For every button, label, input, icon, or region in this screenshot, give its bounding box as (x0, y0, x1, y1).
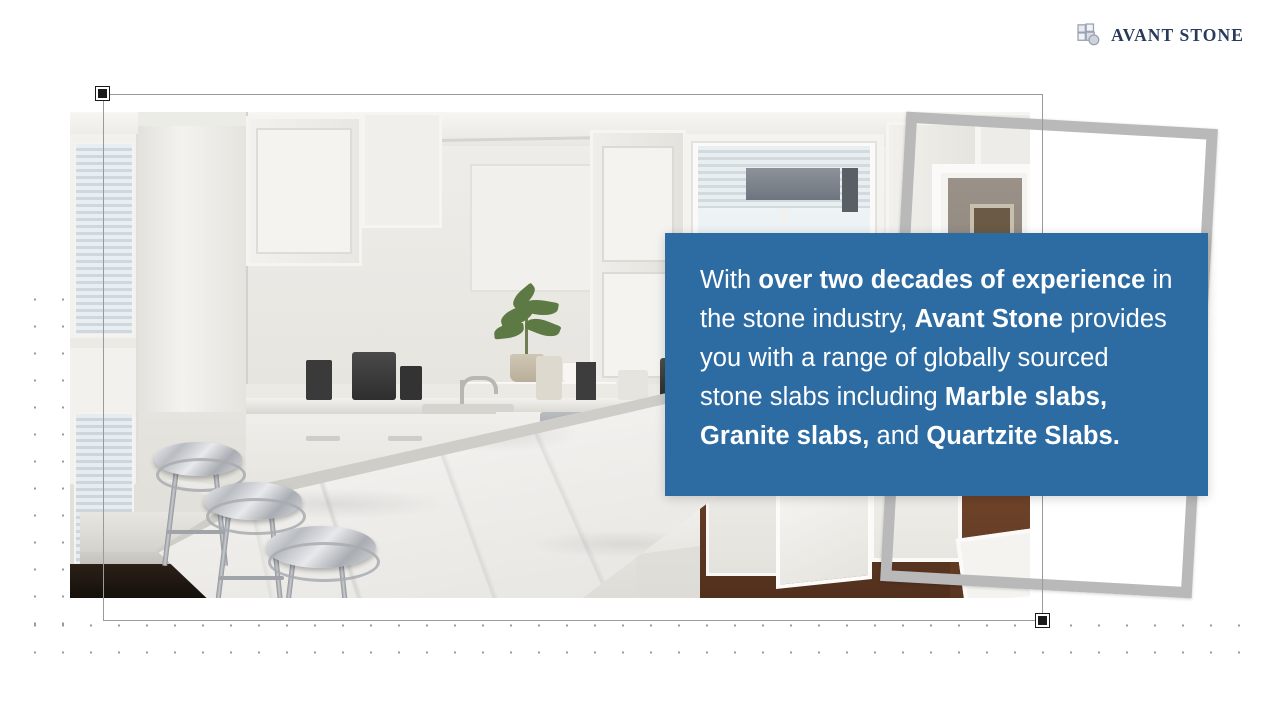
crop-handle-top-left[interactable] (96, 87, 109, 100)
stacked-cubes-icon (1076, 22, 1102, 48)
crop-handle-bottom-right[interactable] (1036, 614, 1049, 627)
slide-canvas: With over two decades of experience in t… (0, 0, 1280, 720)
logo-text: AVANT STONE (1111, 25, 1244, 46)
text-card-body: With over two decades of experience in t… (700, 261, 1178, 456)
text-card: With over two decades of experience in t… (665, 233, 1208, 496)
dot-grid-bottom (21, 612, 1251, 654)
brand-logo[interactable]: AVANT STONE (1076, 22, 1244, 48)
